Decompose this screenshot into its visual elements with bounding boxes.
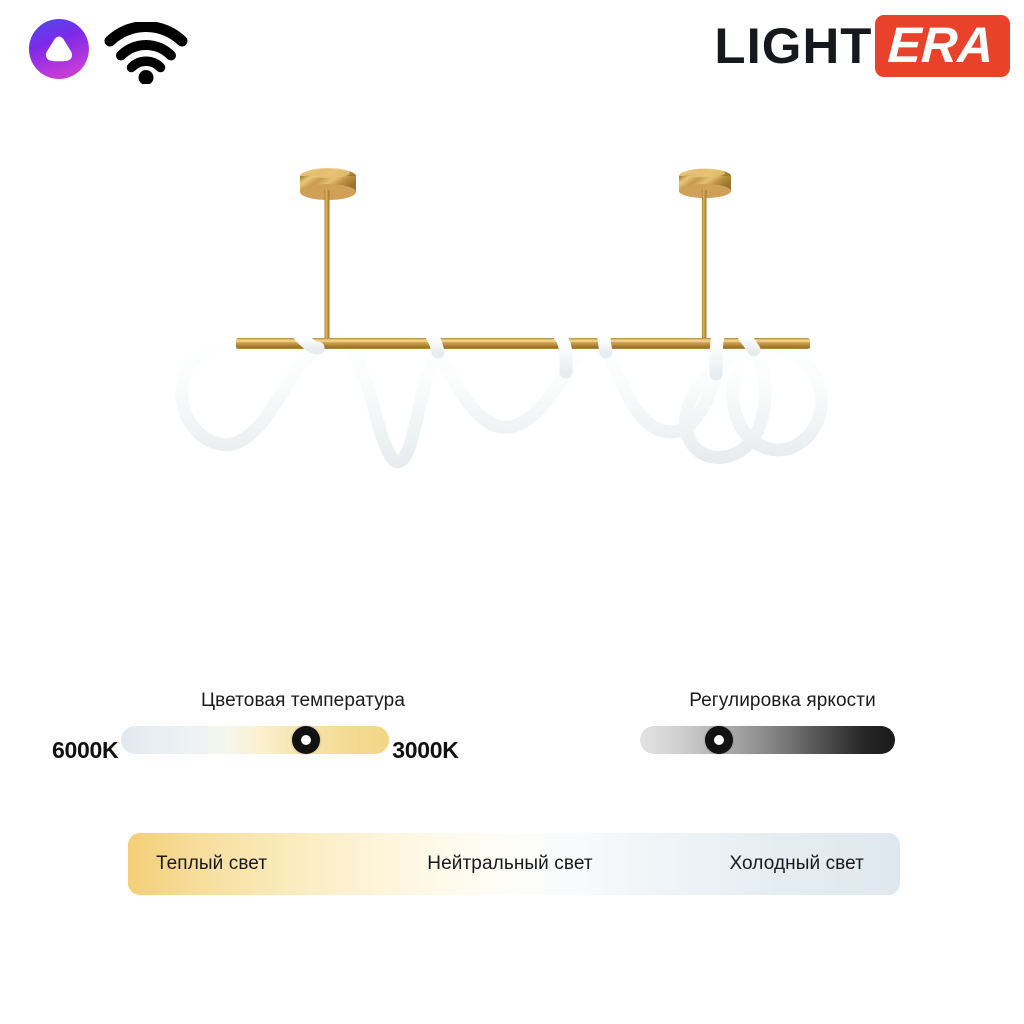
- color-temperature-slider-thumb[interactable]: [292, 726, 320, 754]
- wifi-icon: [104, 22, 188, 84]
- brightness-control: Регулировка яркости: [640, 690, 925, 754]
- mode-option-warm[interactable]: Теплый свет: [128, 853, 392, 875]
- brightness-slider-track[interactable]: [640, 726, 895, 754]
- alice-assistant-icon[interactable]: [27, 17, 91, 81]
- brand-badge: ERA: [875, 15, 1010, 77]
- suspension-rod-right: [702, 190, 707, 346]
- brightness-label: Регулировка яркости: [640, 690, 925, 712]
- light-mode-selector: Теплый свет Нейтральный свет Холодный св…: [128, 833, 900, 895]
- controls-section: Цветовая температура 6000K 3000K Регулир…: [0, 690, 1024, 800]
- header-bar: LIGHT ERA: [0, 0, 1024, 105]
- brand-name-primary: LIGHT: [715, 21, 877, 71]
- brightness-slider-row: [640, 726, 925, 754]
- brand-logo: LIGHT ERA: [716, 17, 1010, 75]
- mode-option-cold[interactable]: Холодный свет: [628, 853, 900, 875]
- color-temperature-slider-row: 6000K 3000K: [52, 726, 482, 754]
- mode-option-neutral[interactable]: Нейтральный свет: [392, 853, 628, 875]
- color-temperature-slider-track[interactable]: [121, 726, 389, 754]
- color-temperature-max-label: 3000K: [392, 739, 458, 762]
- product-image: [0, 140, 1024, 680]
- color-temperature-label: Цветовая температура: [52, 690, 482, 712]
- color-temperature-control: Цветовая температура 6000K 3000K: [52, 690, 482, 754]
- brightness-slider-thumb[interactable]: [705, 726, 733, 754]
- color-temperature-min-label: 6000K: [52, 739, 118, 762]
- brand-name-secondary: ERA: [887, 20, 995, 70]
- suspension-rod-left: [325, 190, 330, 346]
